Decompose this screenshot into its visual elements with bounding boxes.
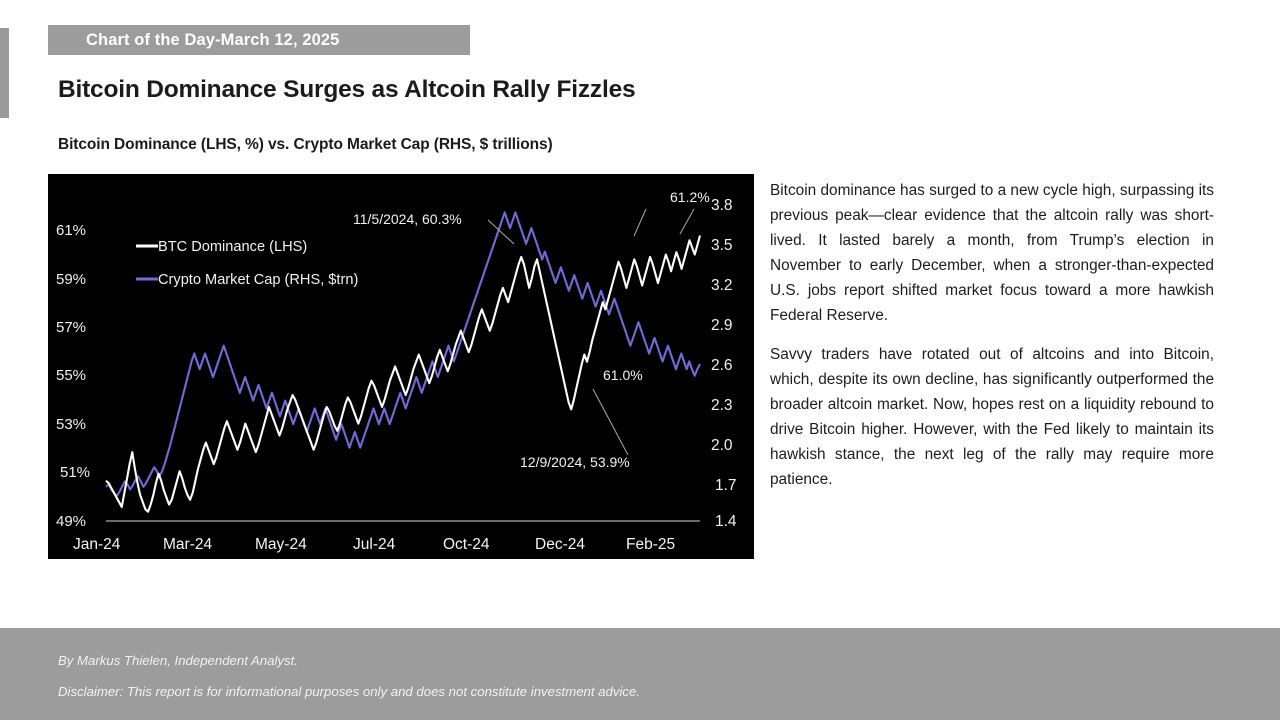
x-tick-0: Jan-24 bbox=[73, 536, 121, 553]
chart-panel: 61% 59% 57% 55% 53% 51% 49% 3.8 3.5 3.2 … bbox=[48, 174, 754, 559]
y-right-tick-8: 3.8 bbox=[711, 197, 733, 214]
annotation-label-nov-peak: 11/5/2024, 60.3% bbox=[353, 211, 462, 227]
y-right-tick-6: 3.2 bbox=[711, 277, 733, 294]
chart-of-the-day-ribbon: Chart of the Day-March 12, 2025 bbox=[48, 25, 470, 55]
y-right-tick-1: 1.7 bbox=[715, 477, 737, 494]
legend-label-crypto-market-cap: Crypto Market Cap (RHS, $trn) bbox=[158, 272, 358, 288]
annotation-label-61-2: 61.2% bbox=[670, 189, 710, 205]
legend-label-btc-dominance: BTC Dominance (LHS) bbox=[158, 239, 307, 255]
left-accent-bar bbox=[0, 28, 9, 118]
y-right-tick-2: 2.0 bbox=[711, 437, 733, 454]
x-tick-5: Dec-24 bbox=[535, 536, 585, 553]
page-title: Bitcoin Dominance Surges as Altcoin Rall… bbox=[58, 76, 635, 104]
x-tick-1: Mar-24 bbox=[163, 536, 212, 553]
y-left-tick-5: 59% bbox=[56, 271, 86, 288]
y-right-tick-5: 2.9 bbox=[711, 317, 733, 334]
y-right-tick-4: 2.6 bbox=[711, 357, 733, 374]
dual-axis-line-chart: 61% 59% 57% 55% 53% 51% 49% 3.8 3.5 3.2 … bbox=[48, 174, 754, 559]
footer-author: By Markus Thielen, Independent Analyst. bbox=[58, 653, 298, 668]
y-left-tick-6: 61% bbox=[56, 222, 86, 239]
commentary-block: Bitcoin dominance has surged to a new cy… bbox=[770, 178, 1214, 492]
x-tick-2: May-24 bbox=[255, 536, 307, 553]
footer-disclaimer: Disclaimer: This report is for informati… bbox=[58, 684, 640, 699]
y-right-tick-0: 1.4 bbox=[715, 513, 737, 530]
annotation-label-61-0: 61.0% bbox=[603, 367, 643, 383]
y-left-tick-3: 55% bbox=[56, 367, 86, 384]
y-right-tick-7: 3.5 bbox=[711, 237, 733, 254]
commentary-paragraph-1: Bitcoin dominance has surged to a new cy… bbox=[770, 178, 1214, 328]
x-tick-3: Jul-24 bbox=[353, 536, 396, 553]
y-right-tick-3: 2.3 bbox=[711, 397, 733, 414]
ribbon-label: Chart of the Day-March 12, 2025 bbox=[48, 31, 339, 50]
x-axis-ticks: Jan-24 Mar-24 May-24 Jul-24 Oct-24 Dec-2… bbox=[73, 536, 675, 553]
y-left-tick-4: 57% bbox=[56, 319, 86, 336]
chart-background bbox=[48, 174, 754, 559]
y-left-tick-0: 49% bbox=[56, 513, 86, 530]
commentary-paragraph-2: Savvy traders have rotated out of altcoi… bbox=[770, 342, 1214, 492]
x-tick-6: Feb-25 bbox=[626, 536, 675, 553]
annotation-label-dec-trough: 12/9/2024, 53.9% bbox=[520, 454, 630, 470]
chart-subtitle: Bitcoin Dominance (LHS, %) vs. Crypto Ma… bbox=[58, 136, 553, 154]
y-left-tick-1: 51% bbox=[60, 464, 90, 481]
y-left-tick-2: 53% bbox=[56, 416, 86, 433]
x-tick-4: Oct-24 bbox=[443, 536, 490, 553]
footer-bar: By Markus Thielen, Independent Analyst. … bbox=[0, 628, 1280, 720]
slide-root: Chart of the Day-March 12, 2025 Bitcoin … bbox=[0, 0, 1280, 720]
